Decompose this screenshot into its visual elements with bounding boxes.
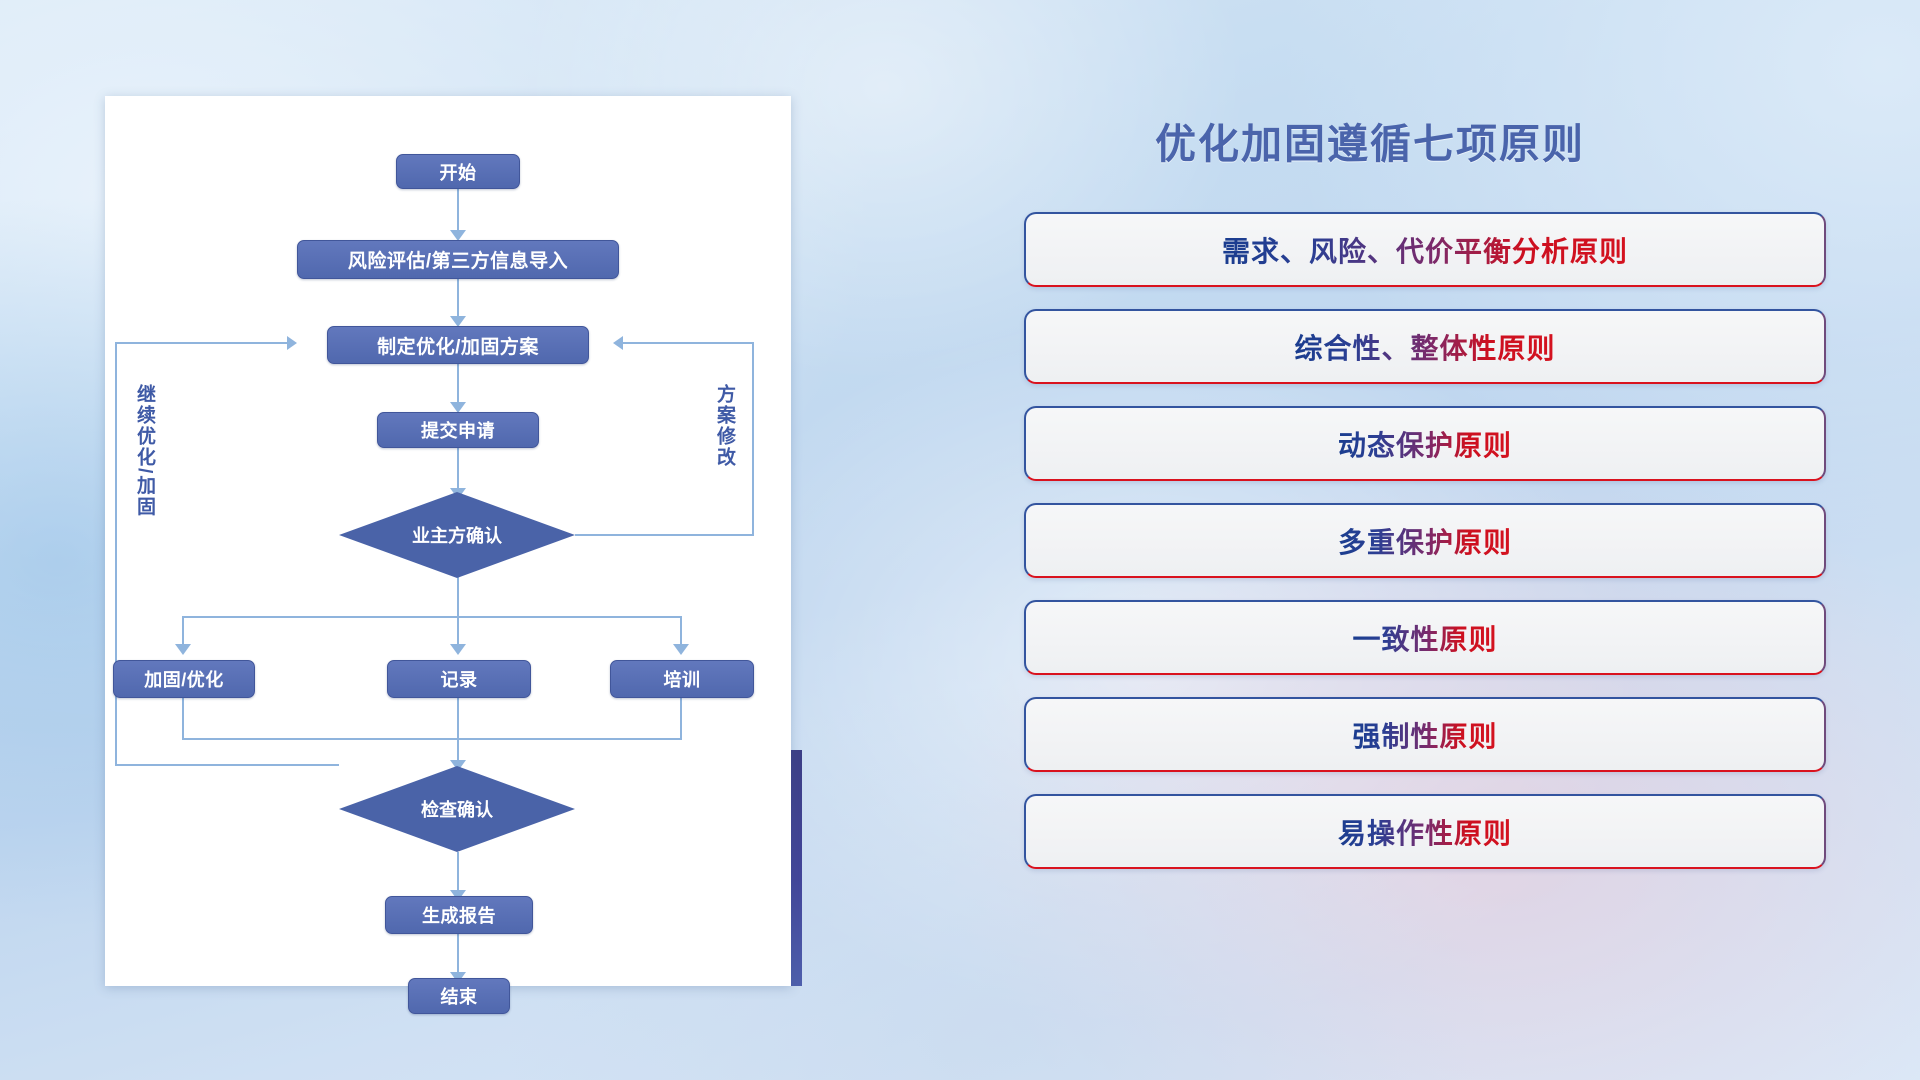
principle-card-label: 多重保护原则 — [1338, 521, 1512, 561]
flow-node-submit[interactable]: 提交申请 — [377, 412, 539, 448]
principle-card[interactable]: 综合性、整体性原则 — [1024, 309, 1826, 384]
arrowhead-continue-plan — [287, 336, 297, 350]
panel-title: 优化加固遵循七项原则 — [1155, 110, 1585, 170]
connector-record-down — [457, 696, 459, 766]
flow-node-reinforce-label: 加固/优化 — [144, 666, 224, 692]
connector-owner-right — [575, 534, 754, 536]
principle-card-label: 动态保护原则 — [1338, 424, 1512, 464]
flow-node-training-label: 培训 — [664, 666, 701, 692]
principle-card-label: 一致性原则 — [1352, 618, 1497, 658]
connector-merge-bus — [182, 738, 682, 740]
arrowhead-reinforce — [175, 644, 191, 655]
flow-node-record[interactable]: 记录 — [387, 660, 531, 698]
connector-owner-down — [457, 576, 459, 618]
principles-list: 需求、风险、代价平衡分析原则 综合性、整体性原则 动态保护原则 多重保护原则 一… — [1024, 212, 1826, 891]
arrowhead-revise-plan — [613, 336, 623, 350]
connector-fanout-bus — [182, 616, 682, 618]
principle-card[interactable]: 多重保护原则 — [1024, 503, 1826, 578]
connector-revise-up — [752, 342, 754, 536]
connector-training-down — [680, 696, 682, 740]
flow-node-start-label: 开始 — [440, 159, 477, 185]
principle-card-label: 强制性原则 — [1352, 715, 1497, 755]
principle-card-label: 综合性、整体性原则 — [1294, 327, 1555, 367]
flow-node-reinforce[interactable]: 加固/优化 — [113, 660, 255, 698]
flow-node-plan-label: 制定优化/加固方案 — [377, 332, 539, 359]
flow-label-continue-loop: 继续优化/加固 — [131, 384, 158, 517]
principle-card[interactable]: 强制性原则 — [1024, 697, 1826, 772]
flowchart-canvas: 开始 风险评估/第三方信息导入 制定优化/加固方案 提交申请 业主方确认 加固/… — [105, 96, 791, 986]
principle-card-label: 需求、风险、代价平衡分析原则 — [1222, 230, 1628, 270]
flow-node-submit-label: 提交申请 — [421, 417, 495, 443]
flow-node-training[interactable]: 培训 — [610, 660, 754, 698]
connector-continue-to-plan — [115, 342, 289, 344]
flow-node-risk-assessment-label: 风险评估/第三方信息导入 — [348, 246, 568, 273]
principle-card[interactable]: 需求、风险、代价平衡分析原则 — [1024, 212, 1826, 287]
connector-plan-submit — [457, 358, 459, 406]
flow-node-start[interactable]: 开始 — [396, 154, 520, 189]
flow-node-end[interactable]: 结束 — [408, 978, 510, 1014]
connector-submit-owner — [457, 444, 459, 492]
flow-decision-owner-confirm-label: 业主方确认 — [412, 522, 502, 548]
flow-node-end-label: 结束 — [441, 983, 478, 1009]
flow-label-revise-loop: 方案修改 — [711, 384, 738, 468]
flow-decision-check-confirm-label: 检查确认 — [421, 796, 493, 822]
principle-card[interactable]: 动态保护原则 — [1024, 406, 1826, 481]
principle-card-label: 易操作性原则 — [1338, 812, 1512, 852]
flow-node-plan[interactable]: 制定优化/加固方案 — [327, 326, 589, 364]
connector-revise-to-plan — [623, 342, 754, 344]
connector-check-left — [115, 764, 339, 766]
flow-decision-owner-confirm[interactable]: 业主方确认 — [339, 492, 575, 578]
flow-node-risk-assessment[interactable]: 风险评估/第三方信息导入 — [297, 240, 619, 279]
arrowhead-training — [673, 644, 689, 655]
connector-reinforce-down — [182, 696, 184, 740]
connector-report-end — [457, 934, 459, 976]
flow-node-record-label: 记录 — [441, 666, 478, 692]
connector-check-report — [457, 852, 459, 894]
principle-card[interactable]: 一致性原则 — [1024, 600, 1826, 675]
flow-node-report[interactable]: 生成报告 — [385, 896, 533, 934]
flowchart-card: 开始 风险评估/第三方信息导入 制定优化/加固方案 提交申请 业主方确认 加固/… — [105, 96, 791, 986]
connector-risk-plan — [457, 272, 459, 320]
principle-card[interactable]: 易操作性原则 — [1024, 794, 1826, 869]
connector-start-risk — [457, 186, 459, 234]
flow-decision-check-confirm[interactable]: 检查确认 — [339, 766, 575, 852]
principles-panel: 优化加固遵循七项原则 需求、风险、代价平衡分析原则 综合性、整体性原则 动态保护… — [1010, 96, 1840, 1006]
connector-fanout-mid — [457, 616, 459, 648]
flow-node-report-label: 生成报告 — [422, 902, 496, 928]
connector-continue-up — [115, 342, 117, 766]
